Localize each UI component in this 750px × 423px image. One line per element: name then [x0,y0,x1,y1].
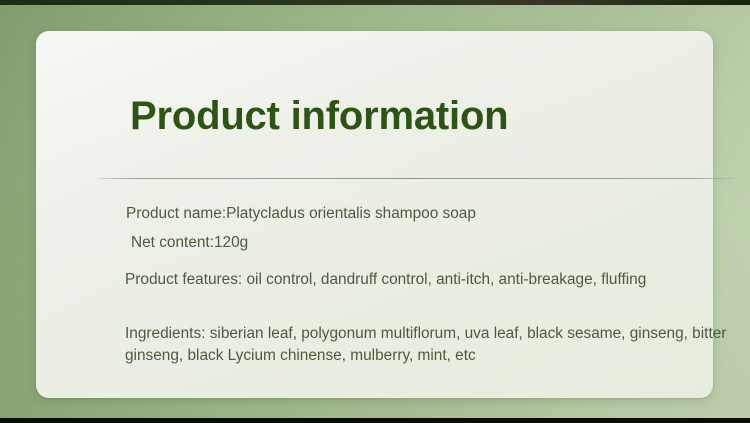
top-edge-band [0,0,750,5]
detail-product-name: Product name:Platycladus orientalis sham… [126,203,476,225]
bottom-edge-band [0,418,750,423]
detail-ingredients: Ingredients: siberian leaf, polygonum mu… [125,323,740,366]
detail-net-content: Net content:120g [131,232,248,254]
info-card: Product information Product name:Platycl… [36,31,713,398]
page-title: Product information [130,95,508,137]
title-divider [98,178,734,179]
product-information-banner: Product information Product name:Platycl… [0,0,750,423]
detail-product-features: Product features: oil control, dandruff … [125,269,685,291]
